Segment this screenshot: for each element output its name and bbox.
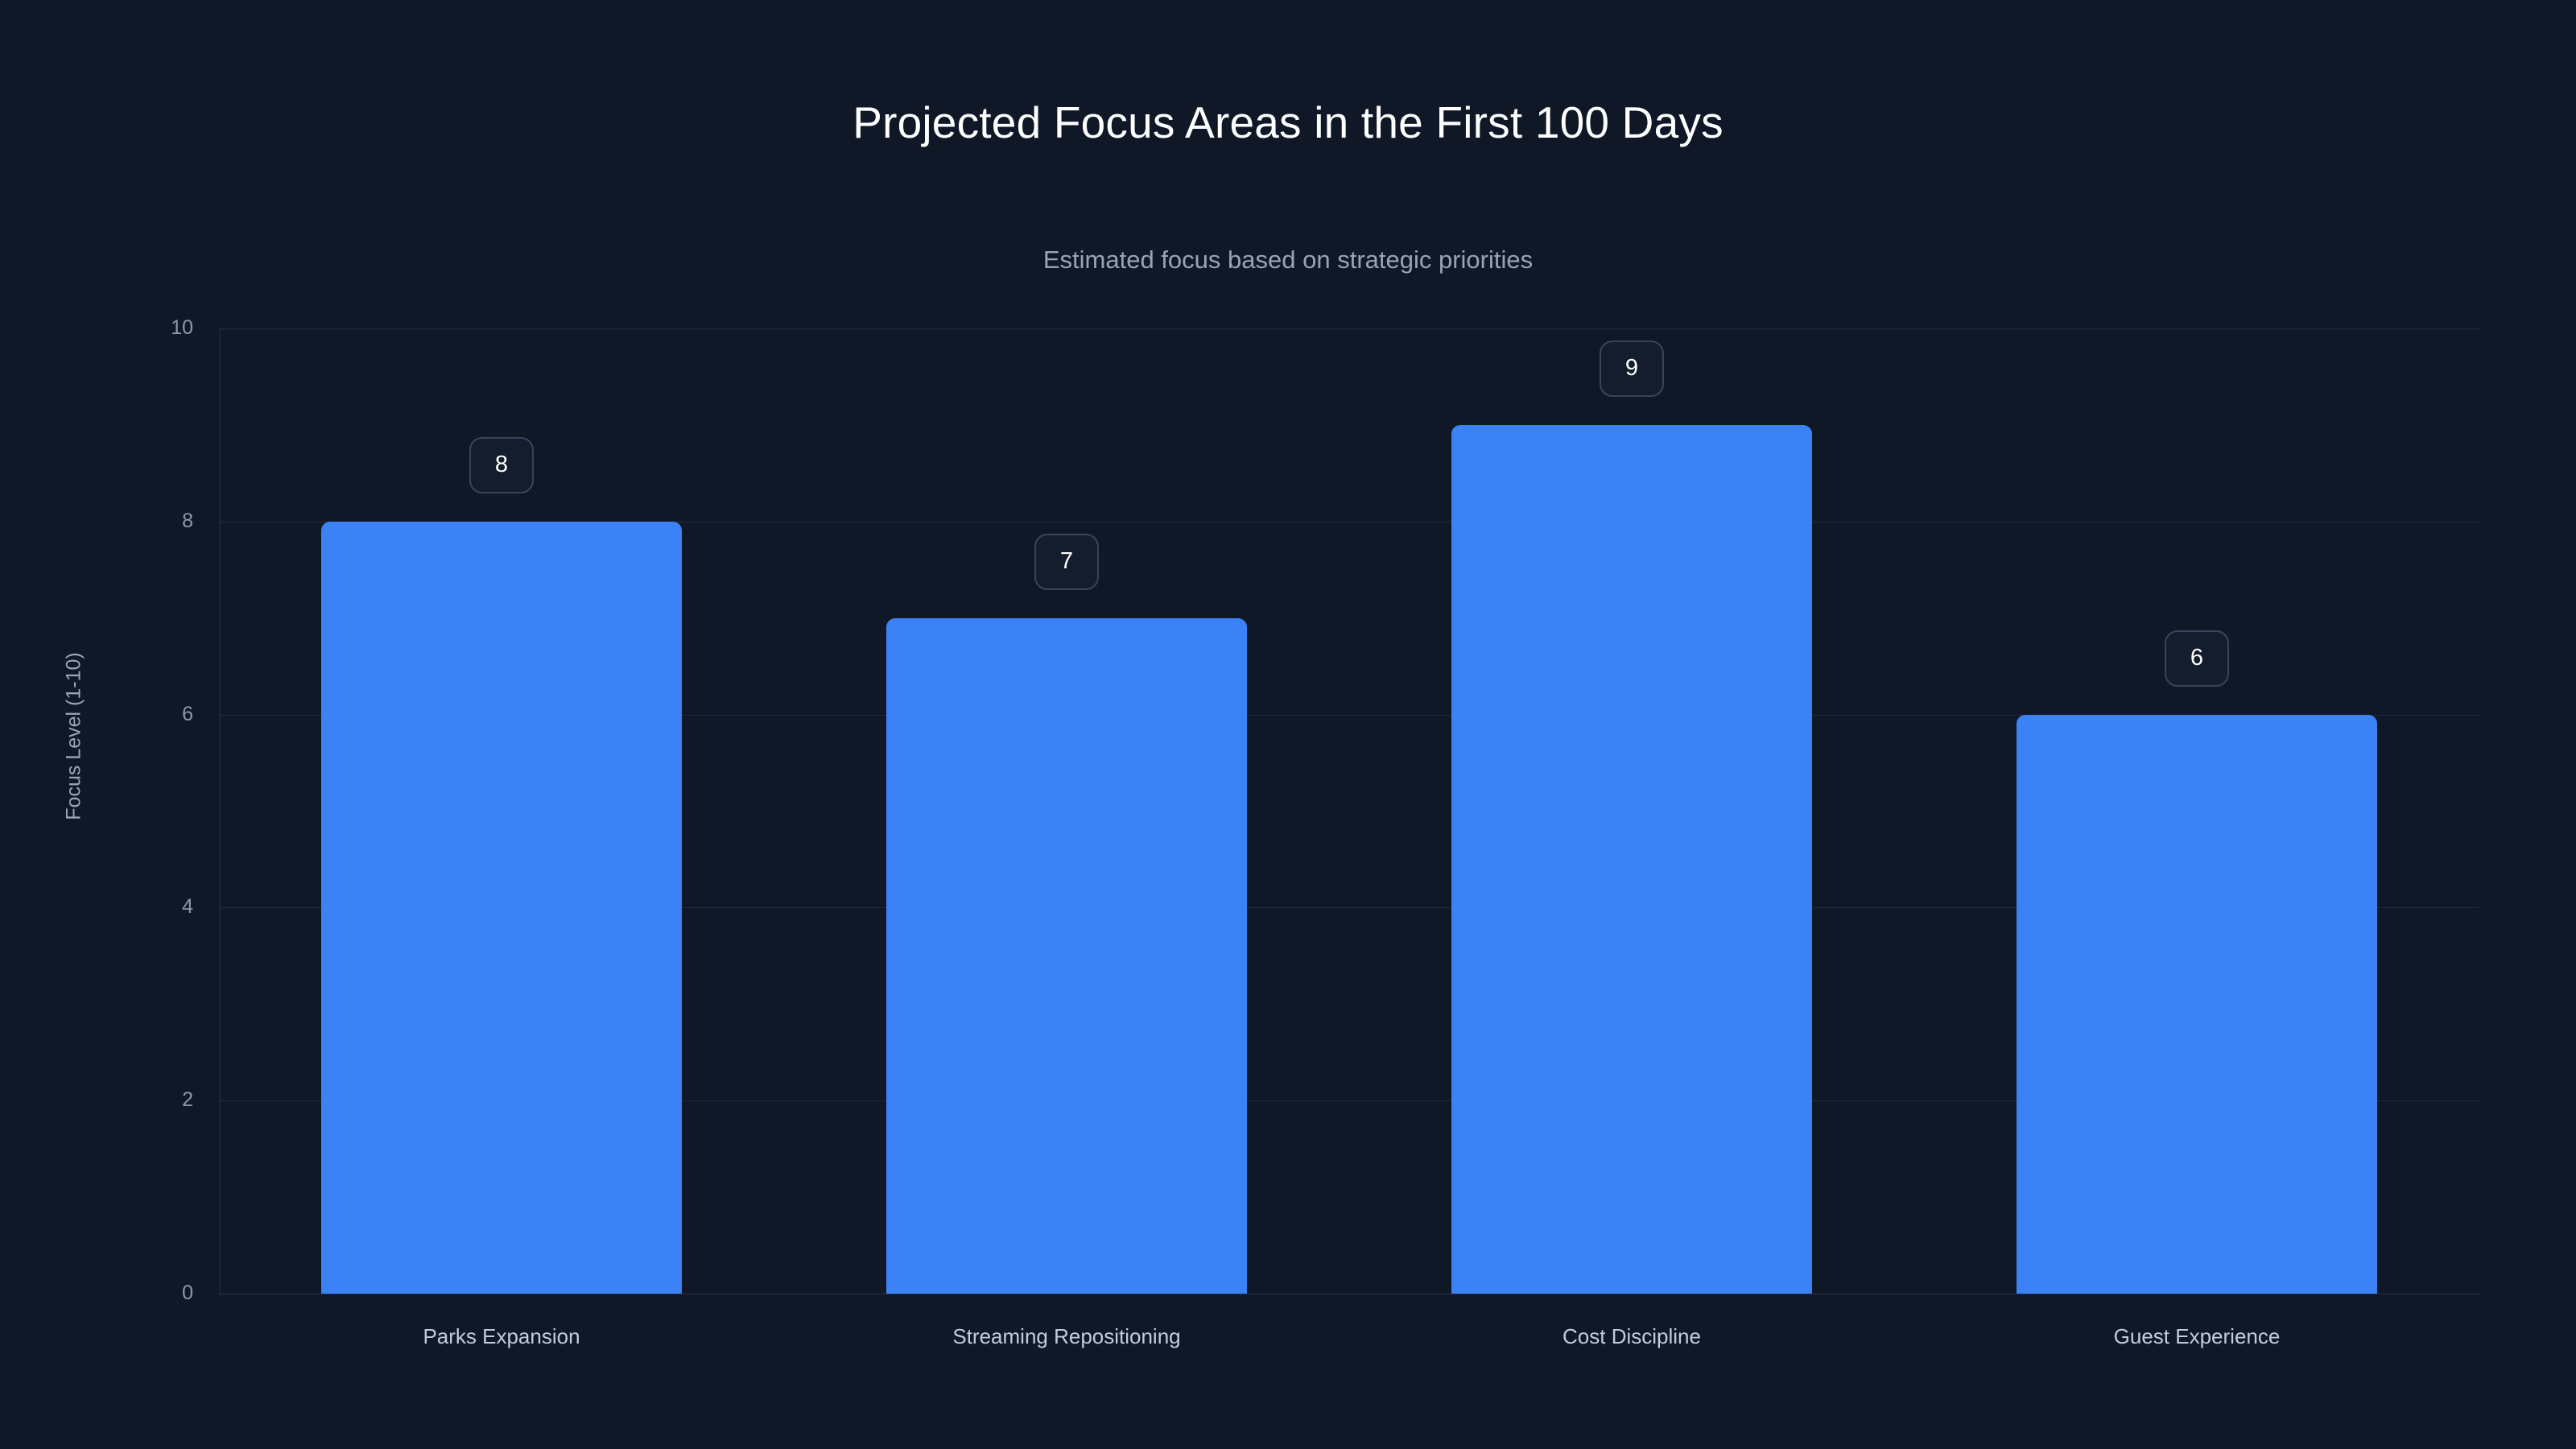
y-axis-tick-label: 8 (129, 510, 193, 533)
bar-value-label: 6 (2165, 630, 2229, 687)
x-axis-tick-label: Streaming Repositioning (785, 1324, 1348, 1349)
y-axis-tick-label: 6 (129, 703, 193, 726)
chart-subtitle: Estimated focus based on strategic prior… (0, 246, 2576, 274)
gridline (219, 328, 2479, 329)
y-axis-tick-label: 0 (129, 1282, 193, 1305)
y-axis-tick-label: 10 (129, 316, 193, 340)
y-axis-tick-label: 2 (129, 1088, 193, 1112)
x-axis-tick-label: Guest Experience (1915, 1324, 2479, 1349)
bar-value-label: 8 (469, 437, 534, 493)
bar[interactable] (2017, 715, 2377, 1294)
y-axis-tick-label: 4 (129, 895, 193, 919)
bar[interactable] (886, 618, 1247, 1294)
gridline (219, 1294, 2479, 1294)
bar-chart-figure: Projected Focus Areas in the First 100 D… (0, 0, 2576, 1449)
x-axis-tick-label: Cost Discipline (1350, 1324, 1913, 1349)
y-axis-title: Focus Level (1-10) (63, 559, 86, 914)
plot-area (219, 328, 2479, 1294)
bar-value-label: 7 (1034, 534, 1099, 590)
chart-title: Projected Focus Areas in the First 100 D… (0, 98, 2576, 147)
bar[interactable] (321, 522, 682, 1294)
x-axis-tick-label: Parks Expansion (220, 1324, 783, 1349)
bar-value-label: 9 (1600, 341, 1664, 397)
bar[interactable] (1451, 425, 1812, 1294)
